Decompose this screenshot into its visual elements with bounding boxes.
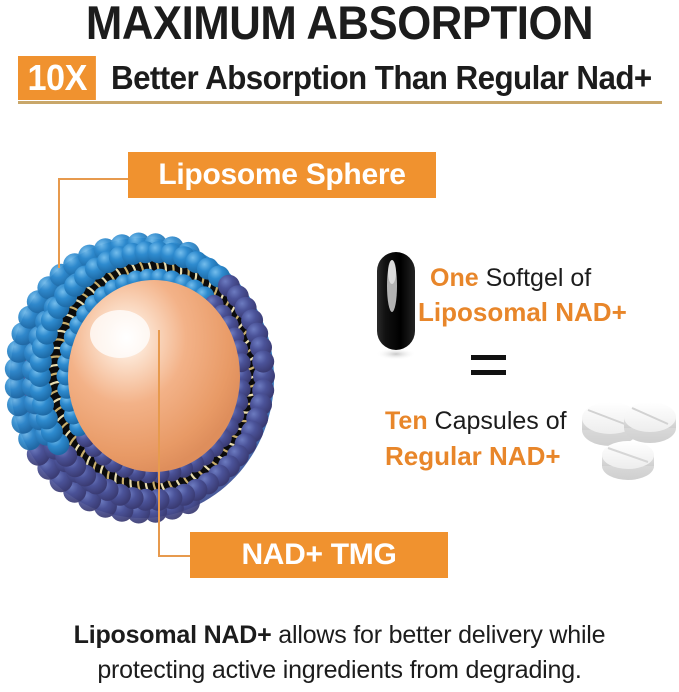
footer-bold-lead: Liposomal NAD+ bbox=[74, 621, 272, 649]
footer-line-1: Liposomal NAD+ allows for better deliver… bbox=[0, 618, 679, 653]
subtitle-text: Better Absorption Than Regular Nad+ bbox=[111, 56, 652, 100]
callout-nad-tmg: NAD+ TMG bbox=[190, 532, 448, 578]
capsules-qty: Ten bbox=[385, 407, 428, 435]
footer-caption: Liposomal NAD+ allows for better deliver… bbox=[0, 618, 679, 688]
liposome-illustration bbox=[2, 218, 302, 538]
leader-liposome-vertical bbox=[58, 178, 60, 268]
footer-line1-rest: allows for better delivery while bbox=[272, 621, 606, 649]
page-title: MAXIMUM ABSORPTION bbox=[24, 0, 655, 48]
comparison-capsules-line1: Ten Capsules of bbox=[385, 405, 567, 437]
comparison-capsules-line2: Regular NAD+ bbox=[385, 440, 561, 472]
equals-symbol bbox=[471, 355, 506, 379]
comparison-softgel-line2: Liposomal NAD+ bbox=[418, 296, 627, 328]
footer-line-2: protecting active ingredients from degra… bbox=[0, 653, 679, 688]
softgel-capsule-icon bbox=[372, 250, 420, 362]
header-divider bbox=[18, 101, 662, 104]
callout-liposome-sphere: Liposome Sphere bbox=[128, 152, 436, 198]
softgel-qty: One bbox=[430, 264, 479, 292]
leader-nad-horizontal bbox=[158, 555, 192, 557]
badge-10x: 10X bbox=[18, 56, 95, 100]
comparison-softgel-line1: One Softgel of bbox=[430, 262, 591, 294]
capsules-line1-rest: Capsules of bbox=[435, 407, 567, 435]
tablets-icon bbox=[578, 396, 678, 484]
leader-liposome-horizontal bbox=[58, 178, 130, 180]
leader-nad-vertical bbox=[158, 330, 160, 556]
softgel-line1-rest: Softgel of bbox=[486, 264, 592, 292]
liposome-core bbox=[68, 280, 240, 472]
subtitle-row: 10X Better Absorption Than Regular Nad+ bbox=[18, 56, 668, 102]
